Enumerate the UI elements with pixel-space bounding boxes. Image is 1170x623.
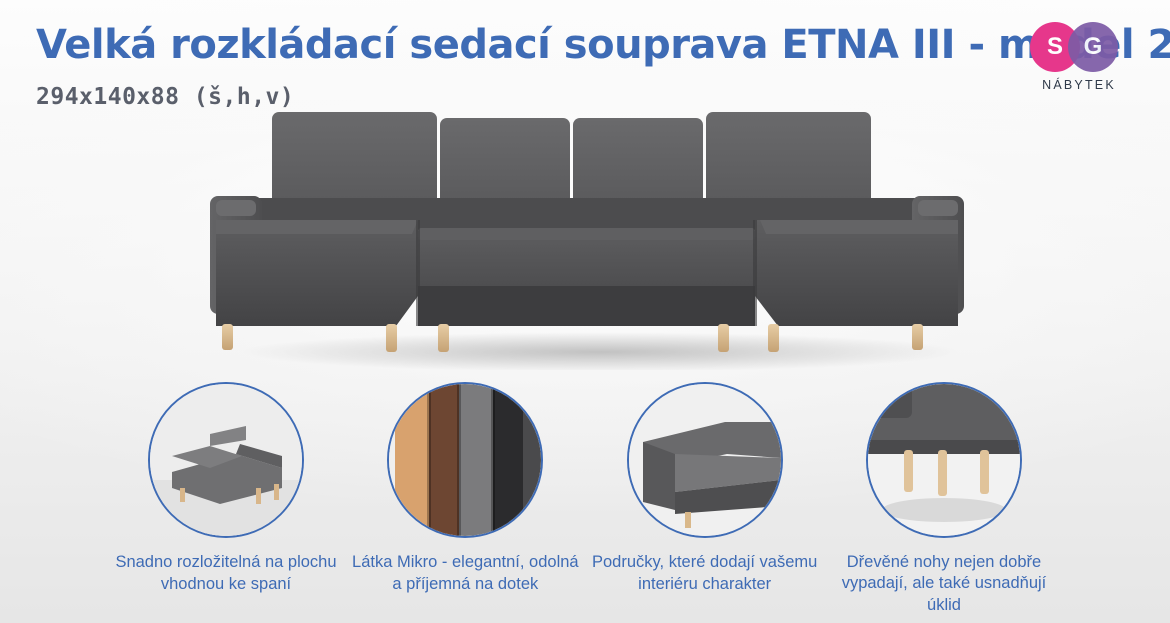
feature-list: Snadno rozložitelná na plochu vhodnou ke… <box>0 382 1170 617</box>
feature-item: Látka Mikro - elegantní, odolná a příjem… <box>349 382 581 617</box>
armrest-icon <box>627 382 783 538</box>
feature-item: Snadno rozložitelná na plochu vhodnou ke… <box>110 382 342 617</box>
logo-letter-right: G <box>1068 22 1118 72</box>
brand-logo: S G NÁBYTEK <box>1014 18 1144 104</box>
left-chaise <box>216 220 418 326</box>
logo-wordmark: NÁBYTEK <box>1014 78 1144 92</box>
logo-circles: S G NÁBYTEK <box>1014 18 1144 76</box>
product-image-sofa <box>200 100 990 370</box>
page-title: Velká rozkládací sedací souprava ETNA II… <box>36 22 1170 68</box>
feature-caption: Dřevěné nohy nejen dobře vypadají, ale t… <box>828 552 1060 617</box>
right-chaise <box>755 220 958 326</box>
center-seat <box>418 228 755 326</box>
wooden-legs-icon <box>866 382 1022 538</box>
sofa-unfolded-icon <box>148 382 304 538</box>
feature-caption: Područky, které dodají vašemu interiéru … <box>589 552 821 596</box>
product-banner: Velká rozkládací sedací souprava ETNA II… <box>0 0 1170 623</box>
feature-item: Dřevěné nohy nejen dobře vypadají, ale t… <box>828 382 1060 617</box>
feature-caption: Látka Mikro - elegantní, odolná a příjem… <box>349 552 581 596</box>
fabric-swatches-icon <box>387 382 543 538</box>
feature-caption: Snadno rozložitelná na plochu vhodnou ke… <box>110 552 342 596</box>
feature-item: Područky, které dodají vašemu interiéru … <box>589 382 821 617</box>
sofa-illustration <box>200 100 990 370</box>
